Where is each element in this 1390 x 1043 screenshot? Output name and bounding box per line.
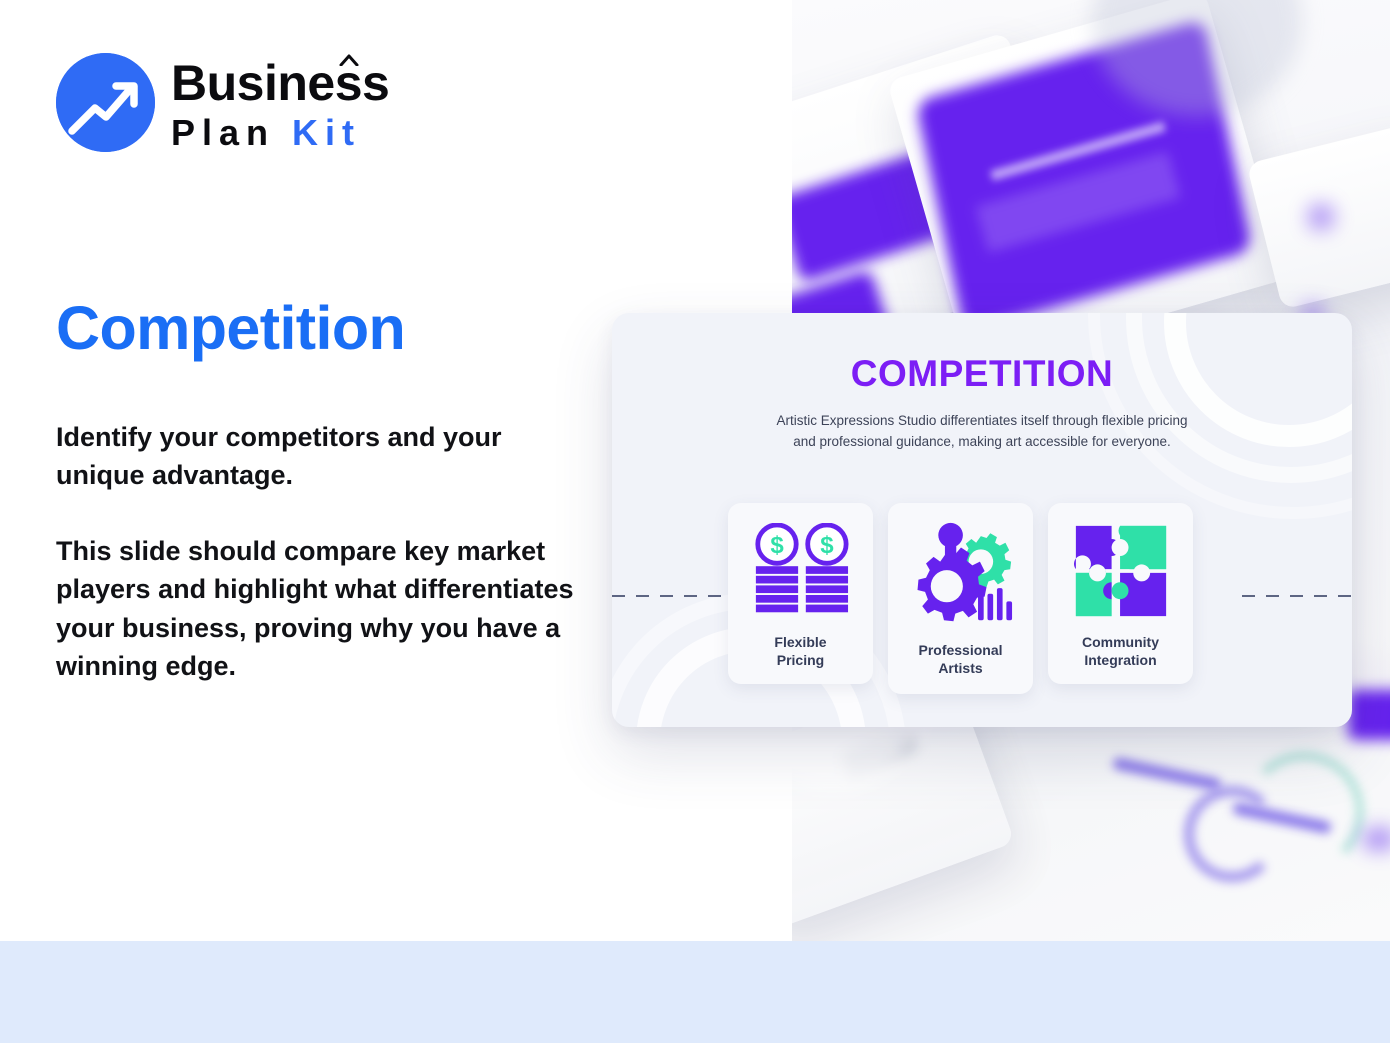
- feature-label-line-1: Flexible: [774, 634, 826, 650]
- brand-kit-text: Kit: [292, 112, 361, 153]
- brand-line-plan-kit: Plan Kit: [171, 115, 389, 151]
- description-paragraph: This slide should compare key market pla…: [56, 532, 576, 685]
- slide-preview-card[interactable]: COMPETITION Artistic Expressions Studio …: [612, 313, 1352, 727]
- intro-paragraph: Identify your competitors and your uniqu…: [56, 418, 576, 495]
- page-title: Competition: [56, 296, 405, 360]
- slide-preview-page: Business Plan Kit Competition Identify y…: [0, 0, 1390, 1043]
- circumflex-accent-icon: [339, 54, 359, 66]
- feature-label-professional-artists: Professional Artists: [918, 641, 1002, 678]
- bg-purple-corner: [1348, 690, 1390, 740]
- feature-label-line-2: Pricing: [777, 652, 824, 668]
- brand-plan-text: Plan: [171, 112, 275, 153]
- feature-label-line-1: Community: [1082, 634, 1159, 650]
- feature-label-community-integration: Community Integration: [1082, 633, 1159, 670]
- svg-text:$: $: [770, 532, 784, 559]
- growth-chart-circle-icon: [56, 53, 155, 152]
- bg-dot-c: [1362, 828, 1390, 850]
- brand-logo[interactable]: Business Plan Kit: [56, 53, 389, 152]
- feature-card-community-integration[interactable]: Community Integration: [1048, 503, 1193, 684]
- bg-dot-a: [1308, 204, 1334, 230]
- feature-label-flexible-pricing: Flexible Pricing: [774, 633, 826, 670]
- feature-card-professional-artists[interactable]: Professional Artists: [888, 503, 1033, 694]
- slide-title: COMPETITION: [612, 353, 1352, 395]
- bg-arc-teal: [1244, 752, 1364, 872]
- coin-stacks-dollar-icon: $ $: [751, 517, 851, 625]
- feature-card-flexible-pricing[interactable]: $ $: [728, 503, 873, 684]
- brand-line-business: Business: [171, 58, 389, 108]
- gears-lightbulb-chart-icon: [909, 513, 1013, 633]
- bottom-accent-band: [0, 941, 1390, 1043]
- brand-wordmark: Business Plan Kit: [171, 54, 389, 151]
- feature-label-line-2: Integration: [1084, 652, 1156, 668]
- connector-dash-left: [612, 595, 728, 597]
- feature-label-line-2: Artists: [938, 660, 982, 676]
- connector-dash-right: [1242, 595, 1352, 597]
- svg-text:$: $: [820, 532, 834, 559]
- feature-card-row: $ $: [728, 503, 1193, 694]
- puzzle-pieces-icon: [1074, 517, 1168, 625]
- feature-label-line-1: Professional: [918, 642, 1002, 658]
- slide-subtitle: Artistic Expressions Studio differentiat…: [767, 411, 1197, 452]
